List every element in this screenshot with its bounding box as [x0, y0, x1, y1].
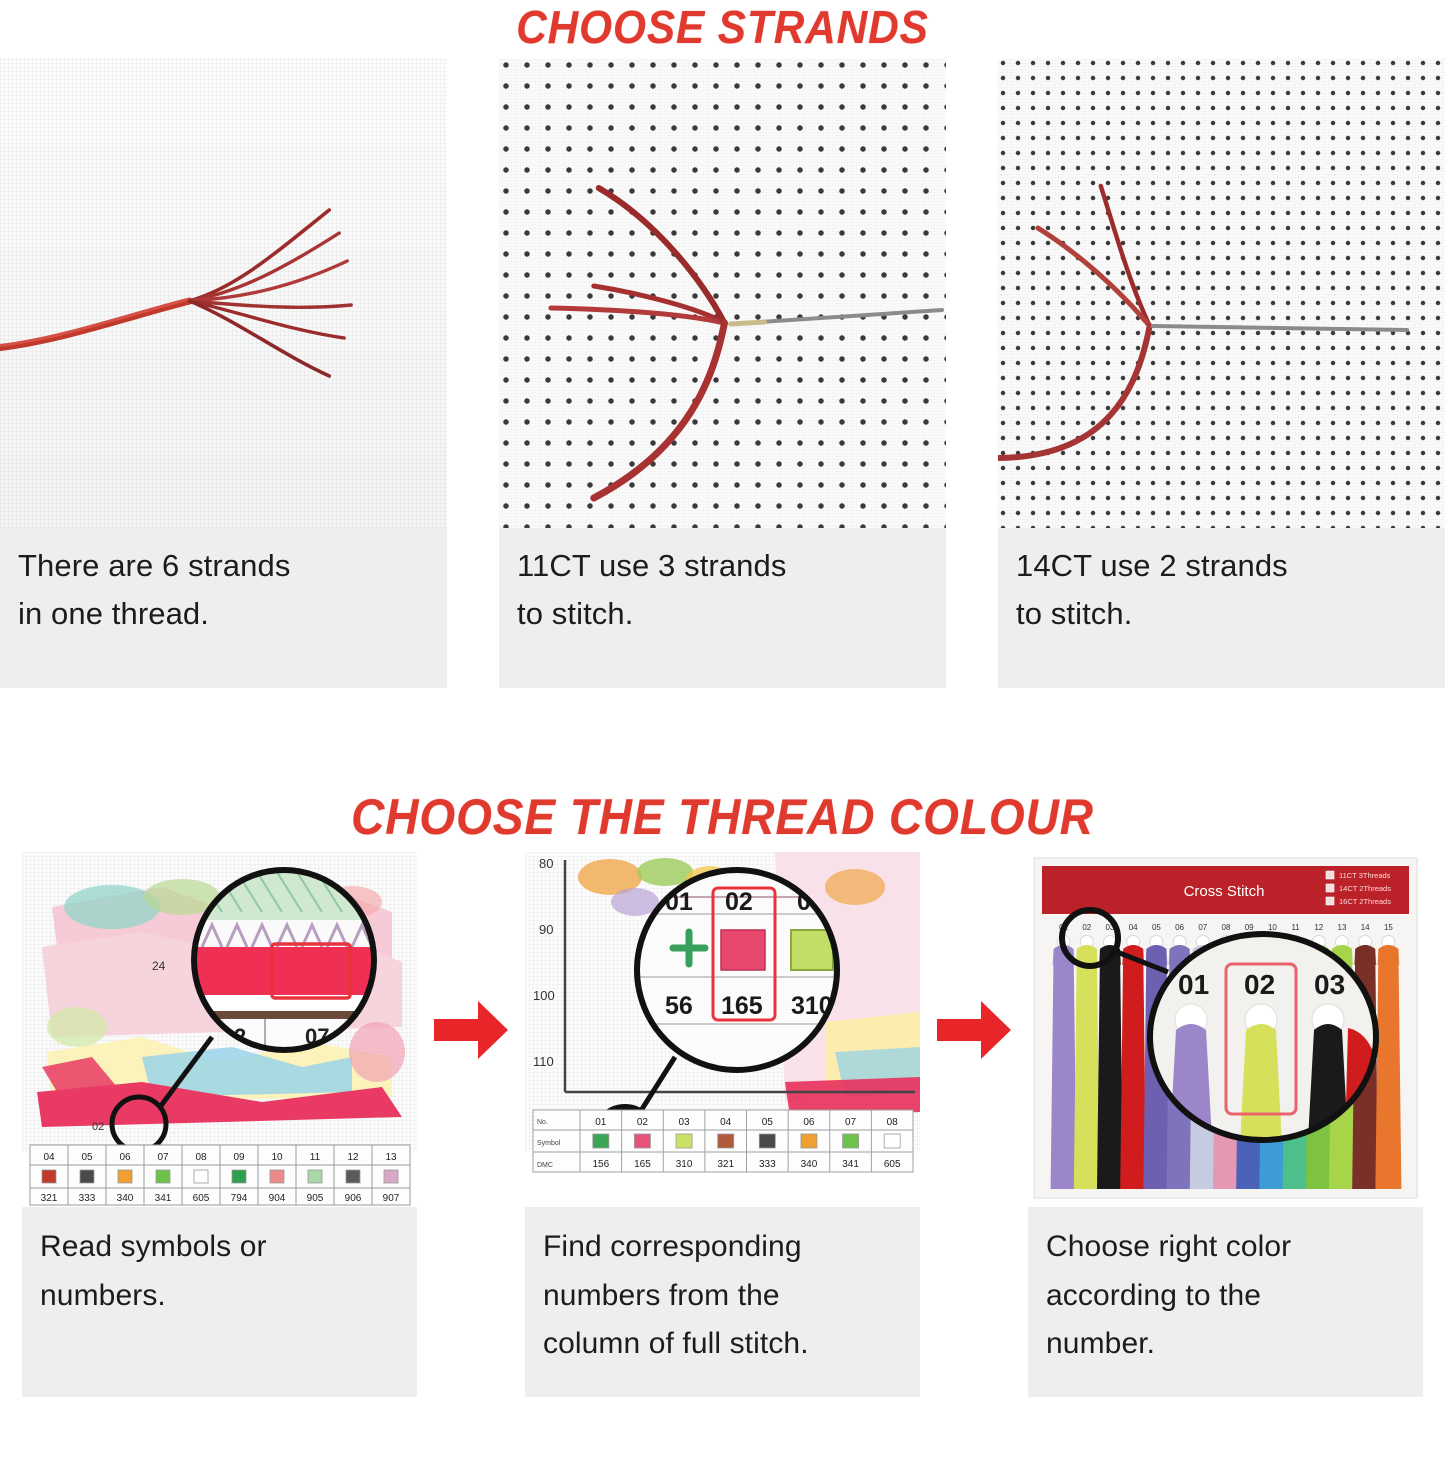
legend-col-number: 05	[81, 1152, 93, 1163]
legend-col-number: 09	[233, 1152, 245, 1163]
legend-col-number: 01	[595, 1117, 607, 1128]
legend-dmc-number: 321	[717, 1159, 734, 1170]
skein-strand	[1375, 945, 1401, 1189]
legend-col-number: 06	[803, 1117, 815, 1128]
legend-swatch	[194, 1170, 208, 1183]
legend-swatch	[384, 1170, 398, 1183]
skein-number: 05	[1152, 923, 1161, 932]
legend-swatch	[42, 1170, 56, 1183]
magnified-dmc-56: 56	[665, 992, 693, 1020]
caption-line: numbers.	[40, 1272, 399, 1321]
skein-number: 07	[1198, 923, 1207, 932]
axis-tick: 100	[533, 988, 555, 1003]
caption-line: to stitch.	[1016, 590, 1427, 638]
thread-card-title: Cross Stitch	[1184, 883, 1265, 900]
legend-dmc-number: 333	[759, 1159, 776, 1170]
legend-swatch	[634, 1134, 650, 1148]
magnified-col-02: 02	[725, 888, 753, 916]
option-label: 16CT 2Threads	[1339, 897, 1391, 906]
legend-col-number: 11	[310, 1152, 321, 1163]
legend-dmc-number: 321	[41, 1193, 58, 1204]
caption-line: in one thread.	[18, 590, 429, 638]
caption-14ct: 14CT use 2 strands to stitch.	[998, 528, 1445, 688]
axis-tick: 90	[539, 922, 553, 937]
six-strands-illustration	[0, 58, 447, 528]
skein-strand	[1074, 945, 1100, 1189]
caption-line: to stitch.	[517, 590, 928, 638]
skein-number: 14	[1361, 923, 1370, 932]
caption-11ct: 11CT use 3 strands to stitch.	[499, 528, 946, 688]
skein-number: 13	[1338, 923, 1347, 932]
caption-line: numbers from the	[543, 1272, 902, 1321]
legend-col-number: 04	[720, 1117, 732, 1128]
legend-col-number: 03	[679, 1117, 691, 1128]
caption-line: 11CT use 3 strands	[517, 542, 928, 590]
skein-knot	[1377, 945, 1399, 965]
caption-line: Find corresponding	[543, 1223, 902, 1272]
legend-swatch	[270, 1170, 284, 1183]
arrow-2-wrap	[929, 852, 1019, 1207]
legend-col-number: 04	[43, 1152, 55, 1163]
section-heading-choose-strands: CHOOSE STRANDS	[58, 0, 1387, 58]
thread-card: Cross Stitch 11CT 3Threads14CT 2Threads1…	[1028, 852, 1423, 1207]
caption-line: according to the	[1046, 1272, 1405, 1321]
legend-swatch	[593, 1134, 609, 1148]
legend-dmc-number: 340	[117, 1193, 134, 1204]
legend-swatch	[232, 1170, 246, 1183]
legend-col-number: 13	[385, 1152, 397, 1163]
caption-read-symbols: Read symbols or numbers.	[22, 1207, 417, 1397]
legend-dmc-number: 341	[842, 1159, 859, 1170]
legend-dmc-number: 605	[193, 1193, 210, 1204]
legend-swatch	[676, 1134, 692, 1148]
axis-tick: 110	[533, 1054, 554, 1069]
legend-dmc-number: 340	[801, 1159, 818, 1170]
photo-14ct	[998, 58, 1445, 528]
legend-col-number: 08	[887, 1117, 899, 1128]
legend-swatch	[118, 1170, 132, 1183]
legend-col-number: 06	[119, 1152, 131, 1163]
chart-label-02: 02	[92, 1121, 104, 1133]
legend-dmc-number: 310	[676, 1159, 693, 1170]
pattern-chart-1-graphic: 24 02	[22, 852, 417, 1207]
colour-key-table-2: 0115602165033100432105333063400734108605…	[533, 1110, 913, 1172]
legend-swatch	[718, 1134, 734, 1148]
pattern-legend-table: 0432105333063400734108605097941090411905…	[30, 1145, 410, 1205]
pattern-chart-1: 24 02	[22, 852, 417, 1207]
skein-knot	[1354, 945, 1376, 965]
skein-number: 11	[1291, 923, 1300, 932]
caption-line: 14CT use 2 strands	[1016, 542, 1427, 590]
right-arrow-icon	[935, 997, 1013, 1063]
legend-col-number: 05	[762, 1117, 774, 1128]
option-checkbox	[1326, 871, 1334, 879]
photo-pattern-symbols: 24 02	[22, 852, 417, 1207]
thread-card-graphic: Cross Stitch 11CT 3Threads14CT 2Threads1…	[1028, 852, 1423, 1207]
needle-two-strands-illustration	[998, 58, 1445, 528]
pattern-chart-2-graphic: 80 90 100 110	[525, 852, 920, 1207]
right-arrow-icon	[432, 997, 510, 1063]
skein-number: 08	[1222, 923, 1231, 932]
legend-swatch	[156, 1170, 170, 1183]
card-choose-colour: Cross Stitch 11CT 3Threads14CT 2Threads1…	[1028, 852, 1423, 1397]
skein-number: 09	[1245, 923, 1254, 932]
chart-label-24: 24	[152, 959, 166, 973]
legend-swatch	[801, 1134, 817, 1148]
legend-col-number: 10	[271, 1152, 283, 1163]
thread-colour-card-row: 24 02	[0, 852, 1445, 1466]
legend-dmc-number: 165	[634, 1159, 651, 1170]
axis-tick: 80	[539, 856, 553, 871]
pattern-chart-2: 80 90 100 110	[525, 852, 920, 1207]
legend-swatch	[308, 1170, 322, 1183]
photo-pattern-numbers: 80 90 100 110	[525, 852, 920, 1207]
needle-three-strands-illustration	[499, 58, 946, 528]
skein-number: 04	[1129, 923, 1138, 932]
card-11ct-three-strands: 11CT use 3 strands to stitch.	[499, 58, 946, 778]
photo-11ct	[499, 58, 946, 528]
caption-line: Choose right color	[1046, 1223, 1405, 1272]
caption-line: number.	[1046, 1320, 1405, 1369]
legend-row-label: DMC	[537, 1162, 553, 1169]
skein-strand	[1051, 945, 1077, 1189]
skein-number: 15	[1384, 923, 1393, 932]
skein-number: 06	[1175, 923, 1184, 932]
magnified-skein-01: 01	[1178, 969, 1209, 1000]
skein-number: 12	[1314, 923, 1323, 932]
card-find-numbers: 80 90 100 110	[525, 852, 920, 1397]
legend-swatch	[346, 1170, 360, 1183]
section-heading-choose-thread-colour: CHOOSE THE THREAD COLOUR	[58, 778, 1387, 852]
option-label: 14CT 2Threads	[1339, 884, 1391, 893]
legend-col-number: 08	[195, 1152, 207, 1163]
photo-thread-card: Cross Stitch 11CT 3Threads14CT 2Threads1…	[1028, 852, 1423, 1207]
caption-choose-colour: Choose right color according to the numb…	[1028, 1207, 1423, 1397]
legend-swatch	[843, 1134, 859, 1148]
magnified-skein-02: 02	[1244, 969, 1275, 1000]
caption-line: Read symbols or	[40, 1223, 399, 1272]
card-14ct-two-strands: 14CT use 2 strands to stitch.	[998, 58, 1445, 778]
legend-dmc-number: 156	[592, 1159, 609, 1170]
legend-dmc-number: 907	[383, 1193, 400, 1204]
option-checkbox	[1326, 897, 1334, 905]
card-read-symbols: 24 02	[22, 852, 417, 1397]
legend-dmc-number: 605	[884, 1159, 901, 1170]
legend-col-number: 07	[157, 1152, 169, 1163]
strands-card-row: There are 6 strands in one thread. 11CT …	[0, 58, 1445, 778]
legend-dmc-number: 905	[307, 1193, 324, 1204]
option-checkbox	[1326, 884, 1334, 892]
legend-dmc-number: 906	[345, 1193, 362, 1204]
skein-strand	[1120, 945, 1146, 1189]
caption-six-strands: There are 6 strands in one thread.	[0, 528, 447, 688]
legend-swatch	[80, 1170, 94, 1183]
legend-dmc-number: 904	[269, 1193, 286, 1204]
card-six-strands: There are 6 strands in one thread.	[0, 58, 447, 778]
magnified-dmc-165: 165	[721, 992, 763, 1020]
caption-line: column of full stitch.	[543, 1320, 902, 1369]
legend-col-number: 07	[845, 1117, 857, 1128]
legend-col-number: 02	[637, 1117, 649, 1128]
legend-dmc-number: 333	[79, 1193, 96, 1204]
caption-find-numbers: Find corresponding numbers from the colu…	[525, 1207, 920, 1397]
skein-strand	[1097, 945, 1123, 1189]
option-label: 11CT 3Threads	[1339, 871, 1391, 880]
skein-number: 02	[1082, 923, 1091, 932]
legend-swatch	[759, 1134, 775, 1148]
legend-row-label: No.	[537, 1119, 548, 1126]
legend-dmc-number: 794	[231, 1193, 248, 1204]
caption-line: There are 6 strands	[18, 542, 429, 590]
magnified-skein-03: 03	[1314, 969, 1345, 1000]
legend-swatch	[884, 1134, 900, 1148]
legend-row-label: Symbol	[537, 1140, 561, 1147]
legend-dmc-number: 341	[155, 1193, 172, 1204]
photo-six-strands	[0, 58, 447, 528]
arrow-1-wrap	[426, 852, 516, 1207]
legend-col-number: 12	[347, 1152, 359, 1163]
skein-number: 10	[1268, 923, 1277, 932]
